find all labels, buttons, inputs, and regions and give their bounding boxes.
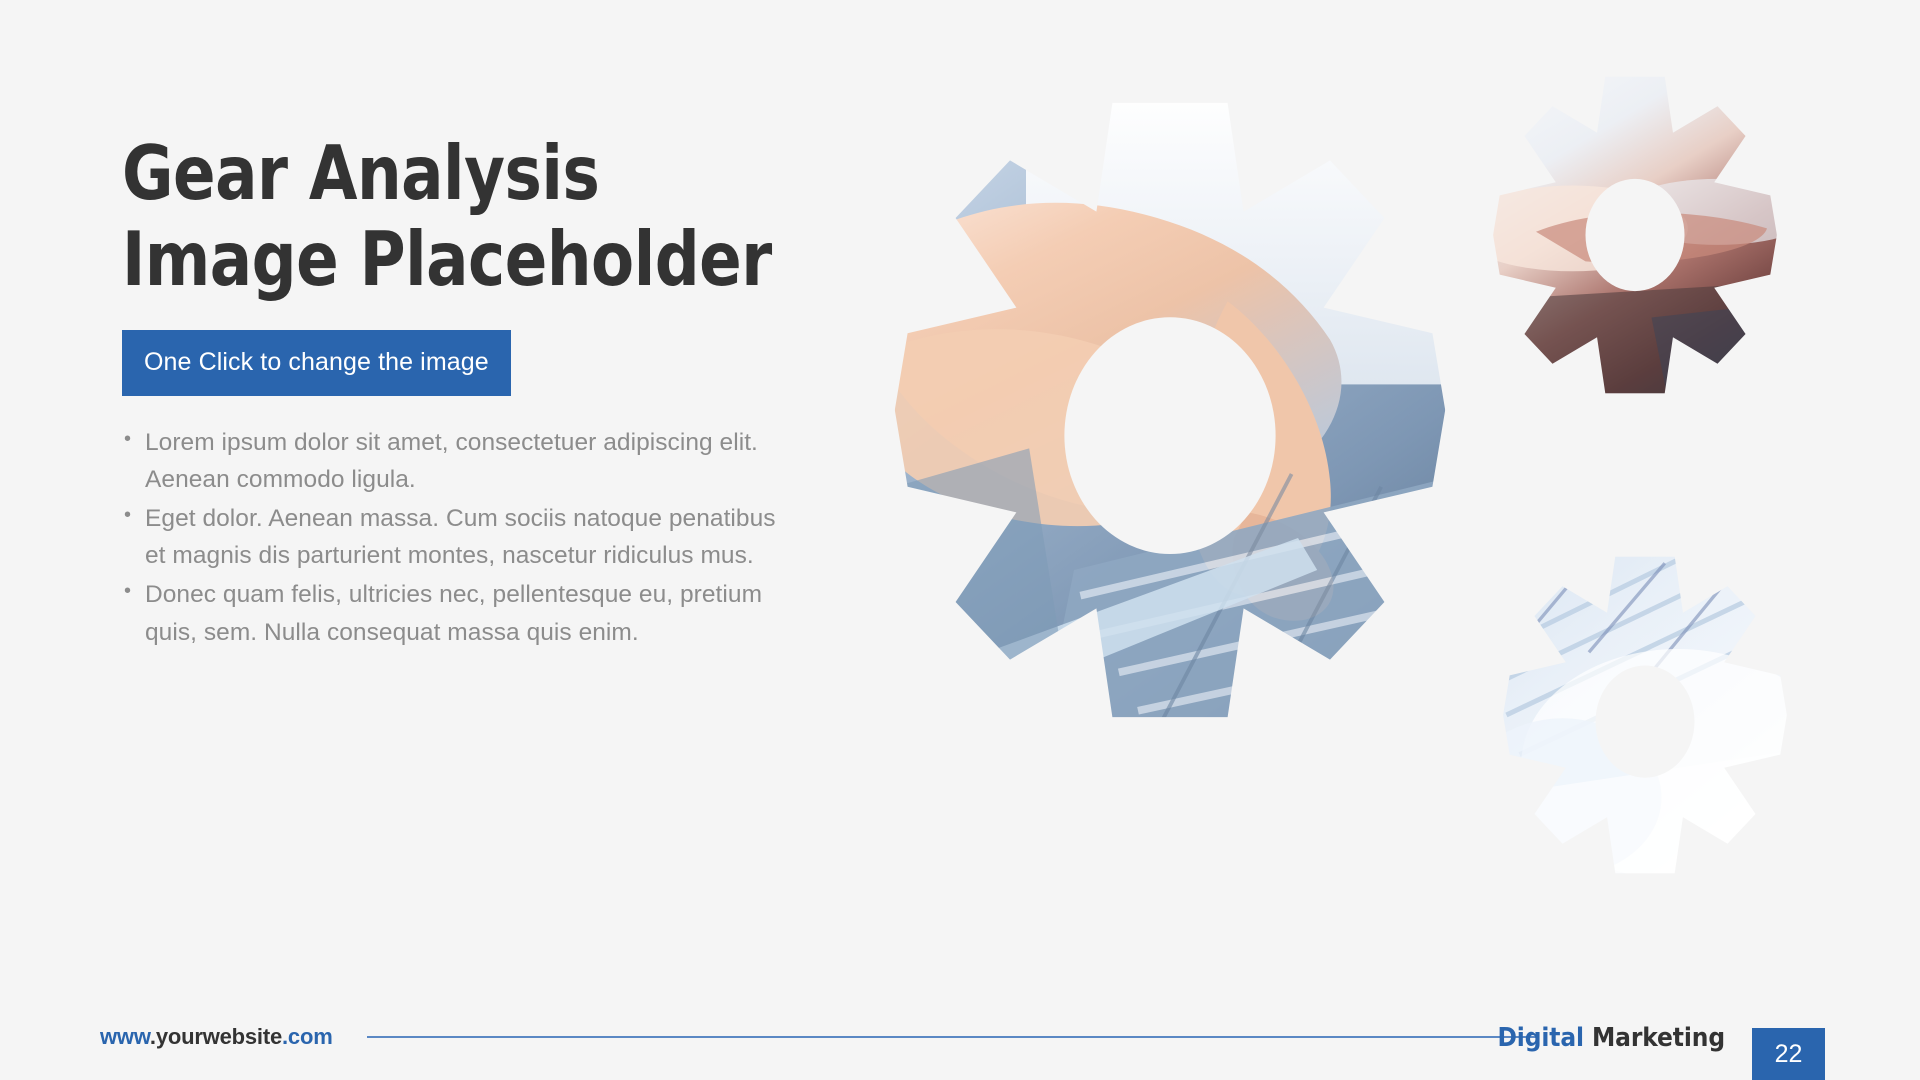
gear-main-image[interactable] (850, 90, 1490, 730)
content-column: Gear Analysis Image Placeholder One Clic… (122, 130, 842, 653)
brand-label: Digital Marketing (1497, 1023, 1725, 1053)
list-item: Eget dolor. Aenean massa. Cum sociis nat… (122, 500, 782, 574)
gear-graphic-group (880, 70, 1920, 970)
brand-rest: Marketing (1584, 1023, 1725, 1053)
slide-canvas: Gear Analysis Image Placeholder One Clic… (0, 0, 1920, 1080)
page-number-badge: 22 (1752, 1028, 1825, 1080)
bullet-list: Lorem ipsum dolor sit amet, consectetuer… (122, 424, 782, 651)
gear-top-right-image[interactable] (1470, 70, 1800, 400)
url-prefix: www (100, 1024, 150, 1049)
url-suffix: .com (282, 1024, 333, 1049)
website-url[interactable]: www.yourwebsite.com (100, 1024, 333, 1050)
page-title: Gear Analysis Image Placeholder (122, 130, 792, 303)
brand-accent: Digital (1497, 1023, 1583, 1053)
gear-bottom-right-image[interactable] (1480, 550, 1810, 880)
footer-divider (367, 1036, 1537, 1038)
change-image-badge[interactable]: One Click to change the image (122, 330, 511, 396)
list-item: Donec quam felis, ultricies nec, pellent… (122, 576, 782, 650)
footer-bar: www.yourwebsite.com Digital Marketing 22 (0, 1010, 1920, 1080)
url-body: .yourwebsite (150, 1024, 282, 1049)
list-item: Lorem ipsum dolor sit amet, consectetuer… (122, 424, 782, 498)
page-number: 22 (1752, 1040, 1825, 1069)
